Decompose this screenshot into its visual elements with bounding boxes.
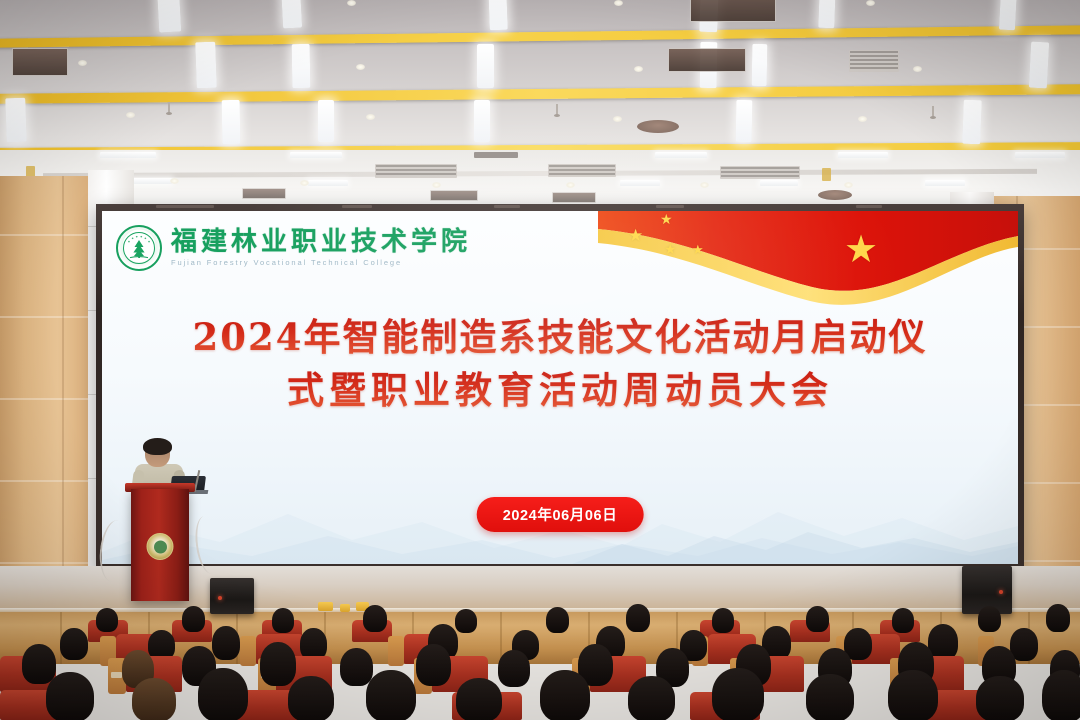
ceiling-downlight (170, 178, 179, 184)
college-emblem-icon (116, 225, 162, 271)
ceiling-downlight (614, 0, 623, 6)
soffit-light-strip (290, 152, 342, 158)
audience-head (976, 676, 1024, 720)
ceiling-downlight (858, 116, 867, 122)
audience-head (366, 670, 416, 720)
soffit-light-strip (655, 152, 707, 158)
soffit-light-strip (838, 152, 888, 158)
wood-seam (0, 234, 96, 236)
ceiling-light-panel (292, 44, 311, 88)
ceiling-downlight (700, 182, 709, 188)
soffit-vent (430, 190, 478, 201)
soffit-vent (548, 164, 616, 177)
ceiling-downlight (613, 116, 622, 122)
flag-star-small: ★ (664, 242, 677, 256)
audience-head (888, 670, 938, 720)
audience-head (628, 676, 675, 720)
audience-head (1042, 670, 1080, 720)
frame-tick (656, 205, 684, 208)
led-screen-frame: ★ ★ ★ ★ ★ (96, 204, 1024, 570)
slide-title-line2: 式暨职业教育活动周动员大会 (102, 364, 1018, 417)
flag-star-small: ★ (628, 227, 643, 244)
wood-seam (0, 398, 96, 400)
ceiling-downlight (432, 182, 441, 188)
ceiling-band-2 (0, 84, 1080, 105)
college-name-block: 福建林业职业技术学院 Fujian Forestry Vocational Te… (171, 229, 471, 267)
audience-head (260, 642, 296, 686)
soffit-light-strip (620, 180, 660, 186)
auditorium-photo: ★ ★ ★ ★ ★ (0, 0, 1080, 720)
ceiling-light-panel (195, 42, 217, 89)
audience-head (456, 678, 502, 720)
ceiling-round-vent (637, 120, 679, 133)
ceiling-light-panel (488, 0, 508, 30)
pine-tree-icon (128, 239, 150, 259)
ceiling-downlight (78, 60, 87, 66)
audience-head (288, 676, 334, 720)
soffit-light-strip (128, 178, 172, 184)
audience-head (340, 648, 373, 686)
wood-seam (0, 562, 96, 564)
audience-head (96, 608, 118, 632)
audience-head (212, 626, 240, 660)
ceiling-light-panel (999, 0, 1017, 30)
ceiling-downlight (913, 66, 922, 72)
podium-college-seal (147, 533, 174, 560)
speaker-led-indicator (999, 590, 1003, 594)
ceiling-light-panel (474, 100, 490, 142)
exit-sign (822, 168, 831, 181)
ceiling-light-panel (736, 100, 753, 142)
college-logo-lockup: 福建林业职业技术学院 Fujian Forestry Vocational Te… (116, 225, 471, 271)
audience-head (363, 605, 387, 632)
audience-head (540, 670, 590, 720)
seat-number-plate (111, 672, 122, 678)
audience-head (546, 607, 569, 633)
audience-head (806, 606, 829, 632)
flag-star-small: ★ (692, 243, 704, 256)
slide-title-block: 2024年智能制造系技能文化活动月启动仪 式暨职业教育活动周动员大会 (102, 311, 1018, 416)
ceiling-light-panel (5, 98, 27, 143)
ceiling-downlight (634, 66, 643, 72)
seat-arm (388, 636, 404, 666)
podium (131, 489, 189, 601)
slide-date-badge: 2024年06月06日 (477, 497, 644, 532)
soffit-vent (375, 164, 457, 178)
audience-head (498, 650, 530, 687)
slide-title-line1: 2024年智能制造系技能文化活动月启动仪 (102, 311, 1018, 364)
audience-head (60, 628, 88, 660)
soffit-light-strip (100, 152, 156, 158)
ceiling-light-panel (1029, 42, 1049, 89)
audience-head (978, 606, 1001, 632)
soffit-vent (242, 188, 286, 199)
ceiling-light-panel (962, 100, 982, 145)
frame-tick (342, 205, 372, 208)
ceiling-downlight (844, 182, 853, 188)
ceiling-light-panel (477, 44, 494, 88)
ceiling (0, 0, 1080, 222)
soffit-vent (552, 192, 596, 203)
ceiling-downlight (356, 64, 365, 70)
ceiling-downlight (300, 180, 309, 186)
presenter-hair (143, 438, 172, 455)
ceiling-vent (668, 48, 746, 72)
ceiling-vent (849, 50, 899, 72)
audience-head (712, 608, 734, 633)
ceiling-light-panel (318, 100, 334, 142)
ceiling-light-panel (281, 0, 302, 28)
soffit-light-strip (925, 180, 965, 186)
college-name-chinese: 福建林业职业技术学院 (171, 229, 471, 255)
audience-head (1046, 604, 1070, 632)
audience-head (132, 678, 176, 720)
sprinkler-head (168, 102, 170, 113)
led-screen-content: ★ ★ ★ ★ ★ (102, 211, 1018, 564)
flag-ribbon-decoration: ★ ★ ★ ★ ★ (598, 211, 1018, 323)
audience-head (892, 608, 914, 633)
frame-tick (156, 205, 214, 208)
soffit-light-strip (474, 152, 518, 158)
frame-tick (494, 205, 520, 208)
sprinkler-head (932, 106, 934, 117)
college-name-english: Fujian Forestry Vocational Technical Col… (171, 258, 471, 267)
sprinkler-head (556, 104, 558, 115)
soffit-light-strip (308, 180, 348, 186)
audience-head (198, 668, 248, 720)
audience-head (712, 668, 764, 720)
soffit-round-vent (818, 190, 852, 200)
soffit-rail (43, 169, 1037, 178)
wood-seam (0, 480, 96, 482)
audience-head (626, 604, 650, 632)
ceiling-downlight (866, 0, 875, 6)
wood-seam (0, 316, 96, 318)
audience-seating (0, 600, 1080, 720)
ceiling-light-panel (157, 0, 181, 33)
soffit-light-strip (1015, 152, 1065, 158)
ceiling-downlight (566, 182, 575, 188)
audience-head (46, 672, 94, 720)
flag-star-small: ★ (660, 212, 673, 226)
audience-head (182, 606, 205, 632)
frame-tick (856, 205, 882, 208)
ceiling-vent (690, 0, 776, 22)
audience-head (806, 674, 854, 720)
audience-head (455, 609, 477, 633)
audience-head (416, 644, 451, 686)
ceiling-light-panel (222, 100, 241, 144)
soffit-light-strip (760, 180, 798, 186)
ceiling-light-panel (818, 0, 835, 28)
audience-head (272, 608, 294, 633)
ceiling-vent (12, 48, 68, 76)
soffit-vent (720, 166, 800, 179)
flag-star-large: ★ (844, 231, 878, 269)
ceiling-downlight (366, 114, 375, 120)
audience-head (22, 644, 56, 684)
ceiling-downlight (347, 0, 356, 6)
ceiling-light-panel (752, 44, 768, 86)
ceiling-downlight (126, 112, 135, 118)
seat-arm (240, 636, 256, 666)
